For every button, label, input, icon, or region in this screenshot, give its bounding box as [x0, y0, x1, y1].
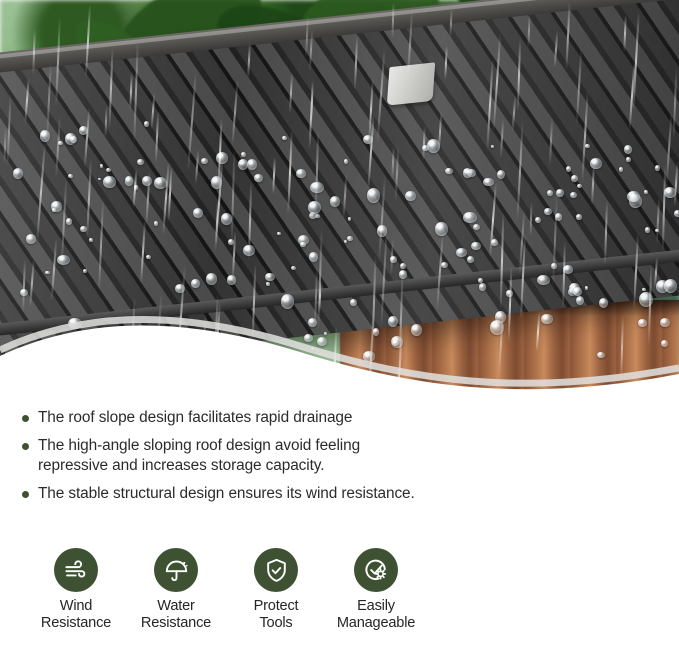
feature-label-line1: Water [157, 598, 194, 614]
water-droplet [45, 271, 49, 275]
feature-icon-row: Wind Resistance Water Resistance [26, 548, 426, 631]
feature-label-line2: Manageable [337, 615, 415, 631]
shield-check-icon [254, 548, 298, 592]
water-droplet [405, 191, 415, 201]
water-droplet [300, 242, 305, 247]
water-droplet [309, 252, 318, 262]
water-droplet [456, 248, 467, 258]
water-droplet [57, 255, 70, 266]
water-droplet [655, 165, 661, 171]
feature-label-line2: Tools [259, 615, 292, 631]
feature-label-line1: Wind [60, 598, 92, 614]
water-droplet [478, 278, 483, 283]
water-droplet [247, 159, 257, 169]
feature-manageable: Easily Manageable [326, 548, 426, 631]
water-droplet [277, 232, 280, 235]
water-droplet [674, 210, 679, 217]
product-feature-banner: The roof slope design facilitates rapid … [0, 0, 679, 649]
bullet-text: The stable structural design ensures its… [38, 484, 415, 503]
water-droplet [344, 159, 349, 164]
feature-label: Water Resistance [141, 598, 211, 631]
gear-check-icon [354, 548, 398, 592]
list-item: The stable structural design ensures its… [22, 484, 432, 503]
feature-bullet-list: The roof slope design facilitates rapid … [22, 408, 432, 513]
bullet-text: The high-angle sloping roof design avoid… [38, 436, 432, 475]
feature-label: Wind Resistance [41, 598, 111, 631]
feature-label-line2: Resistance [141, 615, 211, 631]
water-droplet [40, 130, 51, 142]
water-droplet [241, 152, 246, 157]
water-droplet [535, 217, 541, 223]
bullet-dot-icon [22, 443, 29, 450]
water-droplet [191, 279, 200, 289]
feature-protect: Protect Tools [226, 548, 326, 631]
feature-label: Easily Manageable [337, 598, 415, 631]
water-droplet [590, 158, 602, 169]
water-droplet [467, 256, 474, 262]
feature-label-line1: Easily [357, 598, 395, 614]
list-item: The high-angle sloping roof design avoid… [22, 436, 432, 475]
umbrella-icon [154, 548, 198, 592]
water-droplet [125, 176, 133, 185]
water-droplet [576, 214, 581, 220]
wind-icon [54, 548, 98, 592]
feature-label-line1: Protect [254, 598, 299, 614]
water-droplet [626, 157, 631, 162]
water-droplet [463, 212, 476, 223]
water-droplet [664, 279, 677, 293]
water-droplet [296, 169, 306, 178]
water-droplet [445, 168, 453, 175]
bullet-text: The roof slope design facilitates rapid … [38, 408, 352, 427]
water-droplet [100, 164, 103, 168]
water-droplet [291, 266, 296, 270]
water-droplet [330, 196, 340, 207]
roof-flashing-piece [387, 62, 435, 105]
water-droplet [26, 234, 36, 243]
water-droplet [83, 269, 87, 273]
bullet-dot-icon [22, 415, 29, 422]
water-droplet [367, 188, 380, 203]
water-droplet [642, 288, 646, 292]
water-droplet [201, 158, 208, 164]
bullet-dot-icon [22, 491, 29, 498]
water-droplet [347, 236, 353, 242]
feature-label: Protect Tools [254, 598, 299, 631]
water-droplet [483, 178, 493, 186]
feature-wind: Wind Resistance [26, 548, 126, 631]
water-droplet [193, 208, 204, 218]
water-droplet [13, 168, 23, 179]
water-droplet [348, 217, 351, 220]
water-droplet [644, 190, 648, 194]
water-droplet [400, 263, 406, 269]
water-droplet [585, 144, 590, 148]
water-droplet [68, 174, 73, 178]
content-section: The roof slope design facilitates rapid … [0, 400, 679, 649]
feature-label-line2: Resistance [41, 615, 111, 631]
water-droplet [265, 273, 275, 282]
water-droplet [585, 286, 588, 290]
wave-divider [0, 300, 679, 410]
feature-water: Water Resistance [126, 548, 226, 631]
water-droplet [52, 208, 55, 212]
list-item: The roof slope design facilitates rapid … [22, 408, 432, 427]
water-droplet [103, 176, 117, 188]
